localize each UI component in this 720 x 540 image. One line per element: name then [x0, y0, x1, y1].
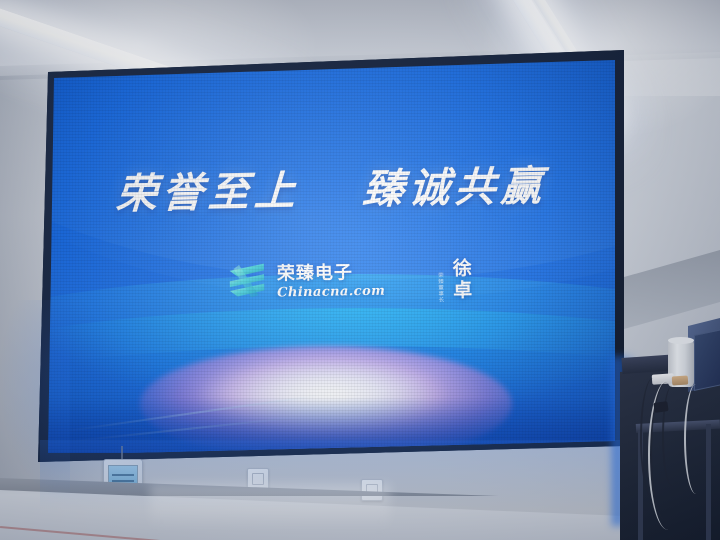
headline-right: 臻诚共赢	[361, 162, 547, 214]
slide-headline: 荣誉至上 臻诚共赢	[48, 151, 615, 222]
slide-content: 荣誉至上 臻诚共赢	[48, 60, 615, 453]
logo-company-cn: 荣臻电子	[277, 264, 385, 284]
cylindrical-speaker-top	[668, 337, 694, 344]
laptop-icon[interactable]	[694, 329, 720, 391]
control-panel-conduit	[121, 446, 123, 460]
floor-reflection	[150, 484, 390, 530]
chinacna-z-mark-icon	[226, 261, 269, 306]
headline-left: 荣誉至上	[115, 167, 301, 219]
room-scene: 荣誉至上 臻诚共赢	[0, 0, 720, 540]
signature-name: 徐卓	[448, 258, 476, 302]
cable-white-2	[684, 384, 708, 494]
logo-text-block: 荣臻电子 Chinacna.com	[277, 264, 386, 300]
led-video-wall[interactable]: 荣誉至上 臻诚共赢	[38, 50, 624, 462]
screen-panel: 荣誉至上 臻诚共赢	[48, 60, 615, 453]
logo-company-en: Chinacna.com	[277, 285, 385, 300]
control-panel-readout-line-1	[112, 474, 134, 476]
signature-caption: 荣臻董事长	[436, 272, 445, 303]
control-panel-readout-line-2	[112, 480, 134, 482]
company-logo: 荣臻电子 Chinacna.com	[226, 259, 386, 306]
cable-plug-block	[653, 401, 668, 413]
signature-block: 荣臻董事长 徐卓	[436, 258, 476, 303]
